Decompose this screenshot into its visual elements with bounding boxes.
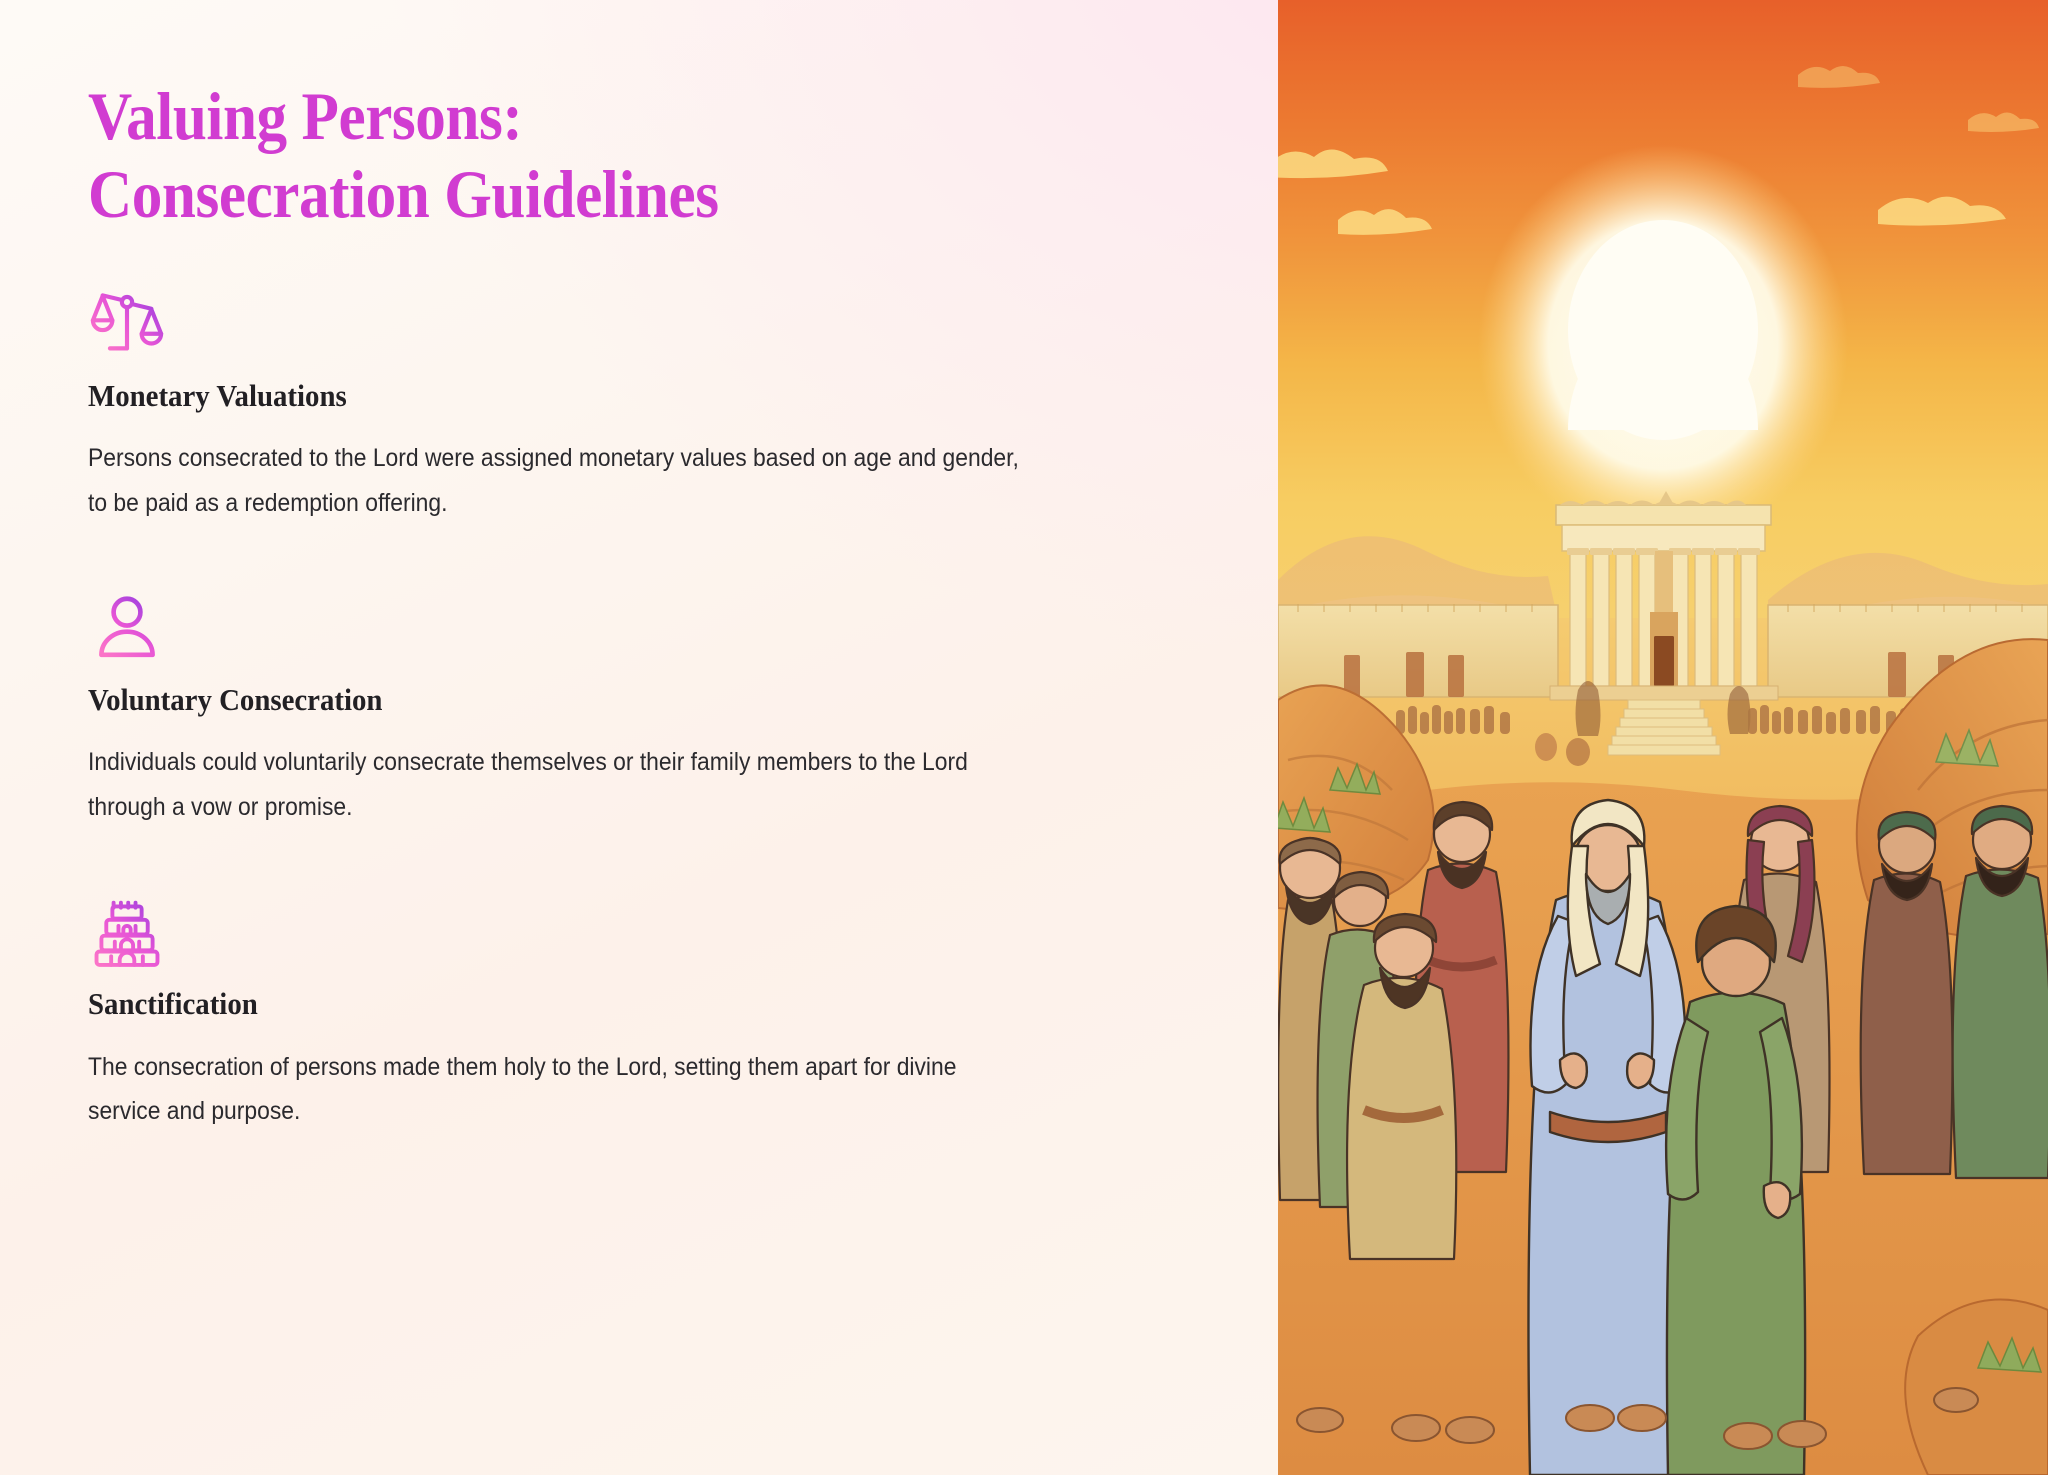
page-title: Valuing Persons: Consecration Guidelines [88, 78, 835, 233]
balance-scales-icon [88, 285, 166, 363]
section-body: The consecration of persons made them ho… [88, 1045, 1021, 1134]
sections-list: Monetary Valuations Persons consecrated … [88, 285, 1198, 1134]
section-heading: Sanctification [88, 985, 1120, 1022]
section-monetary-valuations: Monetary Valuations Persons consecrated … [88, 285, 1198, 525]
section-heading: Monetary Valuations [88, 377, 1120, 414]
section-heading: Voluntary Consecration [88, 681, 1120, 718]
temple-sunset-crowd-illustration [1278, 0, 2048, 1475]
section-sanctification: Sanctification The consecration of perso… [88, 893, 1198, 1133]
section-body: Individuals could voluntarily consecrate… [88, 740, 1021, 829]
section-body: Persons consecrated to the Lord were ass… [88, 436, 1021, 525]
person-icon [88, 589, 166, 667]
temple-icon [88, 893, 166, 971]
content-panel: Valuing Persons: Consecration Guidelines [0, 0, 1278, 1475]
section-voluntary-consecration: Voluntary Consecration Individuals could… [88, 589, 1198, 829]
slide-root: Valuing Persons: Consecration Guidelines [0, 0, 2048, 1475]
